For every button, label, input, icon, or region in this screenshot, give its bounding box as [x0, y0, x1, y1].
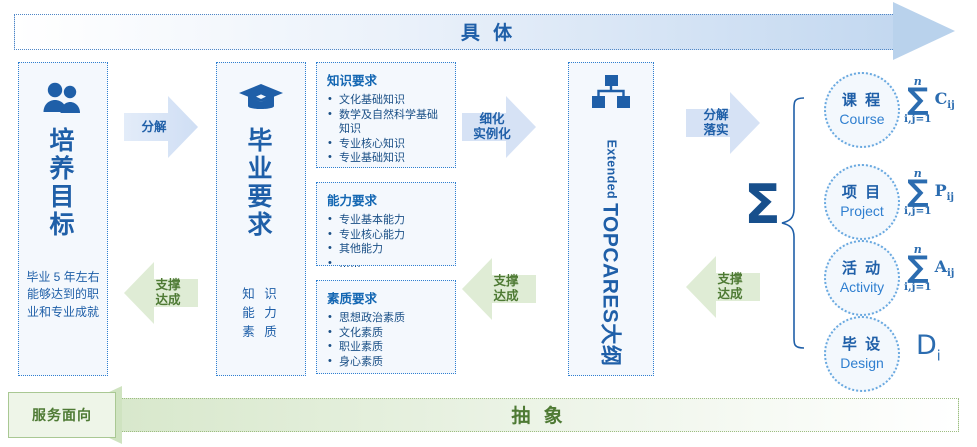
- step-support-1[interactable]: 支撑 达成: [124, 262, 198, 324]
- term-subscript: i: [937, 348, 941, 364]
- subgrid-line: 素 质: [217, 323, 305, 342]
- list-item: 专业核心能力: [325, 228, 447, 243]
- column-training-objective[interactable]: 培 养 目 标 毕业 5 年左右能够达到的职业和专业成就: [18, 62, 108, 376]
- requirement-card-quality[interactable]: 素质要求 思想政治素质 文化素质 职业素质 身心素质: [316, 280, 456, 374]
- outcome-label-en: Activity: [840, 279, 884, 295]
- title-char: 业: [247, 155, 274, 183]
- brace-connector: [780, 96, 806, 355]
- term-base: D: [916, 330, 937, 361]
- column-subgrid-graduation: 知 识 能 力 素 质: [217, 285, 305, 341]
- requirement-card-title: 能力要求: [327, 190, 447, 209]
- list-item: 职业素质: [325, 340, 447, 355]
- outcome-circle-project[interactable]: 项 目 Project: [824, 164, 900, 240]
- step-support-3[interactable]: 支撑 达成: [686, 256, 760, 318]
- bottom-banner-label: 抽 象: [511, 401, 566, 428]
- summation-symbol: n ∑ i,j=1: [904, 244, 932, 293]
- step-decompose[interactable]: 分解: [124, 96, 198, 158]
- requirement-card-knowledge[interactable]: 知识要求 文化基础知识 数学及自然科学基础知识 专业核心知识 专业基础知识: [316, 62, 456, 168]
- sigma-symbol: Σ: [744, 178, 781, 232]
- diagram-canvas: 具 体 培 养 目 标 毕业 5 年左右能够达到的职业和专业成就: [0, 0, 977, 447]
- requirement-card-title: 知识要求: [327, 70, 447, 89]
- title-char: 要: [247, 183, 274, 211]
- title-char: 目: [49, 183, 76, 211]
- outcome-label-cn: 毕 设: [842, 337, 882, 354]
- subgrid-line: 知 识: [217, 285, 305, 304]
- title-char: 培: [49, 127, 76, 155]
- formula-term: Cij: [935, 89, 955, 111]
- title-char: 标: [49, 211, 76, 239]
- topcares-main: TOPCARES大纲: [596, 203, 626, 366]
- service-orientation-box[interactable]: 服务面向: [8, 392, 116, 438]
- service-orientation-label: 服务面向: [32, 405, 92, 425]
- list-item: 专业基础知识: [325, 151, 447, 166]
- formula-term: Aij: [935, 257, 955, 279]
- term-subscript: ij: [947, 192, 954, 203]
- column-topcares[interactable]: Extended TOPCARES大纲: [568, 62, 654, 376]
- term-subscript: ij: [947, 268, 954, 279]
- sum-glyph: ∑: [904, 177, 932, 207]
- formula-project: n ∑ i,j=1 Pij: [904, 168, 954, 217]
- term-base: A: [935, 257, 947, 276]
- formula-course: n ∑ i,j=1 Cij: [904, 76, 955, 125]
- outcome-circle-course[interactable]: 课 程 Course: [824, 72, 900, 148]
- summation-symbol: n ∑ i,j=1: [904, 76, 932, 125]
- outcome-label-cn: 课 程: [842, 93, 882, 110]
- list-item: 文化基础知识: [325, 93, 447, 108]
- sum-glyph: ∑: [904, 253, 932, 283]
- title-char: 养: [49, 155, 76, 183]
- list-item: ……: [325, 257, 447, 272]
- step-implement[interactable]: 分解 落实: [686, 92, 760, 154]
- topcares-title-wrap: Extended TOPCARES大纲: [569, 135, 653, 371]
- sum-lower-limit: i,j=1: [904, 114, 932, 125]
- outcome-label-cn: 活 动: [842, 261, 882, 278]
- sum-lower-limit: i,j=1: [904, 282, 932, 293]
- people-icon: [42, 75, 84, 121]
- requirement-list: 思想政治素质 文化素质 职业素质 身心素质: [325, 311, 447, 369]
- step-refine[interactable]: 细化 实例化: [462, 96, 536, 158]
- bottom-banner: 抽 象: [120, 398, 958, 430]
- graduation-cap-icon: [238, 75, 284, 121]
- formula-activity: n ∑ i,j=1 Aij: [904, 244, 954, 293]
- list-item: 身心素质: [325, 355, 447, 370]
- term-subscript: ij: [947, 100, 954, 111]
- list-item: 思想政治素质: [325, 311, 447, 326]
- list-item: 文化素质: [325, 326, 447, 341]
- formula-term: Pij: [935, 181, 954, 203]
- requirement-card-ability[interactable]: 能力要求 专业基本能力 专业核心能力 其他能力 ……: [316, 182, 456, 266]
- column-title-training-objective: 培 养 目 标: [49, 127, 76, 239]
- sum-glyph: ∑: [904, 85, 932, 115]
- requirement-list: 专业基本能力 专业核心能力 其他能力 ……: [325, 213, 447, 271]
- list-item: 专业基本能力: [325, 213, 447, 228]
- topcares-title-rotated: Extended TOPCARES大纲: [596, 140, 626, 367]
- sum-lower-limit: i,j=1: [904, 206, 932, 217]
- top-banner-label: 具 体: [461, 18, 516, 45]
- requirement-card-title: 素质要求: [327, 288, 447, 307]
- title-char: 毕: [247, 127, 274, 155]
- summation-symbol: n ∑ i,j=1: [904, 168, 932, 217]
- term-base: P: [935, 181, 947, 200]
- outcome-label-en: Design: [840, 355, 884, 371]
- requirement-list: 文化基础知识 数学及自然科学基础知识 专业核心知识 专业基础知识: [325, 93, 447, 166]
- title-char: 求: [247, 211, 274, 239]
- column-subtitle-training-objective: 毕业 5 年左右能够达到的职业和专业成就: [25, 269, 101, 321]
- formula-design: Di: [916, 330, 941, 364]
- column-graduation-requirement[interactable]: 毕 业 要 求 知 识 能 力 素 质: [216, 62, 306, 376]
- list-item: 其他能力: [325, 242, 447, 257]
- outcome-circle-design[interactable]: 毕 设 Design: [824, 316, 900, 392]
- org-chart-icon: [569, 75, 653, 109]
- outcome-label-en: Course: [839, 111, 884, 127]
- formula-term: Di: [916, 330, 941, 364]
- top-banner: 具 体: [0, 14, 977, 48]
- step-support-2[interactable]: 支撑 达成: [462, 258, 536, 320]
- subgrid-line: 能 力: [217, 304, 305, 323]
- term-base: C: [935, 89, 948, 108]
- list-item: 专业核心知识: [325, 137, 447, 152]
- column-title-graduation-requirement: 毕 业 要 求: [247, 127, 274, 239]
- list-item: 数学及自然科学基础知识: [325, 108, 447, 137]
- outcome-label-cn: 项 目: [842, 185, 882, 202]
- outcome-circle-activity[interactable]: 活 动 Activity: [824, 240, 900, 316]
- topcares-prefix: Extended: [604, 140, 618, 199]
- outcome-label-en: Project: [840, 203, 884, 219]
